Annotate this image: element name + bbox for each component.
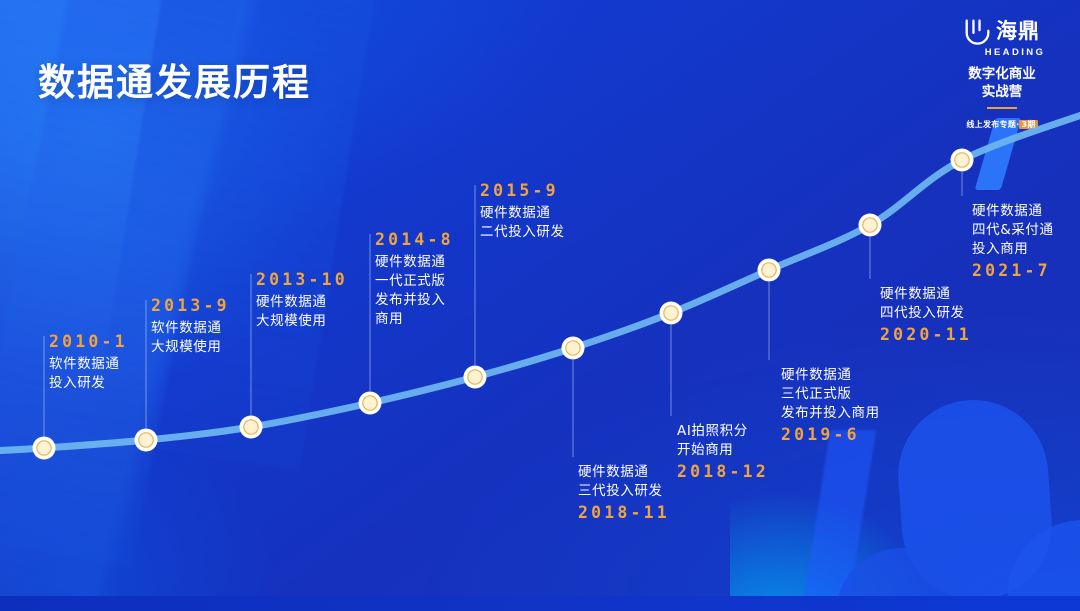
- milestone-description-line: 大规模使用: [256, 312, 348, 331]
- milestone-description: 硬件数据通三代正式版发布并投入商用: [781, 366, 880, 423]
- timeline-node-core: [664, 306, 678, 320]
- milestone-date: 2015-9: [480, 179, 565, 204]
- milestone-description: 硬件数据通大规模使用: [256, 293, 348, 331]
- milestone-description-line: 硬件数据通: [578, 463, 670, 482]
- timeline-node[interactable]: [240, 416, 263, 439]
- slide-canvas: 数据通发展历程 海鼎 HEADING 数字化商业 实战营 线上发布专题·3期 2…: [0, 0, 1080, 611]
- milestone-date: 2021-7: [972, 259, 1054, 284]
- milestone-description-line: 二代投入研发: [480, 223, 565, 242]
- milestone-description: 硬件数据通一代正式版发布并投入商用: [375, 253, 454, 330]
- timeline-node[interactable]: [359, 392, 382, 415]
- timeline-node[interactable]: [660, 302, 683, 325]
- timeline-node-core: [139, 433, 153, 447]
- timeline-node-core: [566, 341, 580, 355]
- timeline-milestone: 硬件数据通三代正式版发布并投入商用2019-6: [781, 366, 880, 448]
- milestone-description: 硬件数据通三代投入研发: [578, 463, 670, 501]
- milestone-description: 硬件数据通四代投入研发: [880, 285, 972, 323]
- milestone-description: 硬件数据通二代投入研发: [480, 204, 565, 242]
- timeline-node-core: [468, 370, 482, 384]
- timeline-node[interactable]: [758, 259, 781, 282]
- milestone-description-line: 软件数据通: [49, 355, 128, 374]
- timeline-node-core: [363, 396, 377, 410]
- timeline-node[interactable]: [464, 366, 487, 389]
- milestone-description-line: 大规模使用: [151, 338, 230, 357]
- timeline-milestone: AI拍照积分开始商用2018-12: [677, 422, 769, 485]
- milestone-date: 2013-9: [151, 294, 230, 319]
- milestone-description: 软件数据通投入研发: [49, 355, 128, 393]
- timeline-node-core: [863, 218, 877, 232]
- milestone-date: 2019-6: [781, 423, 880, 448]
- milestone-description-line: 发布并投入: [375, 291, 454, 310]
- milestone-description: 硬件数据通四代&采付通投入商用: [972, 202, 1054, 259]
- timeline-node-core: [244, 420, 258, 434]
- timeline-node[interactable]: [33, 437, 56, 460]
- timeline-node-core: [37, 441, 51, 455]
- milestone-description-line: 三代投入研发: [578, 482, 670, 501]
- milestone-date: 2020-11: [880, 323, 972, 348]
- timeline-node[interactable]: [562, 337, 585, 360]
- milestone-date: 2018-11: [578, 501, 670, 526]
- milestone-description-line: 四代&采付通: [972, 221, 1054, 240]
- milestone-description-line: 开始商用: [677, 441, 769, 460]
- timeline-milestone: 2015-9硬件数据通二代投入研发: [480, 179, 565, 242]
- milestone-description-line: 硬件数据通: [375, 253, 454, 272]
- milestone-description-line: 软件数据通: [151, 319, 230, 338]
- milestone-date: 2010-1: [49, 330, 128, 355]
- milestone-description: 软件数据通大规模使用: [151, 319, 230, 357]
- milestone-date: 2013-10: [256, 268, 348, 293]
- milestone-description-line: AI拍照积分: [677, 422, 769, 441]
- milestone-date: 2014-8: [375, 228, 454, 253]
- milestone-description-line: 四代投入研发: [880, 304, 972, 323]
- timeline-milestone: 硬件数据通四代投入研发2020-11: [880, 285, 972, 348]
- milestone-description-line: 硬件数据通: [480, 204, 565, 223]
- timeline-milestone: 2013-10硬件数据通大规模使用: [256, 268, 348, 331]
- milestone-description-line: 发布并投入商用: [781, 404, 880, 423]
- milestone-description-line: 硬件数据通: [256, 293, 348, 312]
- timeline-milestone: 2014-8硬件数据通一代正式版发布并投入商用: [375, 228, 454, 329]
- milestone-date: 2018-12: [677, 460, 769, 485]
- timeline-node-core: [762, 263, 776, 277]
- milestone-description-line: 投入研发: [49, 374, 128, 393]
- milestone-description-line: 一代正式版: [375, 272, 454, 291]
- milestone-description: AI拍照积分开始商用: [677, 422, 769, 460]
- milestone-description-line: 三代正式版: [781, 385, 880, 404]
- timeline-milestone: 2013-9软件数据通大规模使用: [151, 294, 230, 357]
- milestone-description-line: 投入商用: [972, 240, 1054, 259]
- timeline-node[interactable]: [859, 214, 882, 237]
- timeline-node[interactable]: [951, 149, 974, 172]
- milestone-description-line: 硬件数据通: [972, 202, 1054, 221]
- timeline-milestone: 2010-1软件数据通投入研发: [49, 330, 128, 393]
- timeline-node[interactable]: [135, 429, 158, 452]
- timeline-curve: [0, 112, 1080, 452]
- timeline-milestone: 硬件数据通三代投入研发2018-11: [578, 463, 670, 526]
- milestone-description-line: 硬件数据通: [781, 366, 880, 385]
- milestone-description-line: 硬件数据通: [880, 285, 972, 304]
- milestone-description-line: 商用: [375, 310, 454, 329]
- timeline-milestone: 硬件数据通四代&采付通投入商用2021-7: [972, 202, 1054, 284]
- timeline-node-core: [955, 153, 969, 167]
